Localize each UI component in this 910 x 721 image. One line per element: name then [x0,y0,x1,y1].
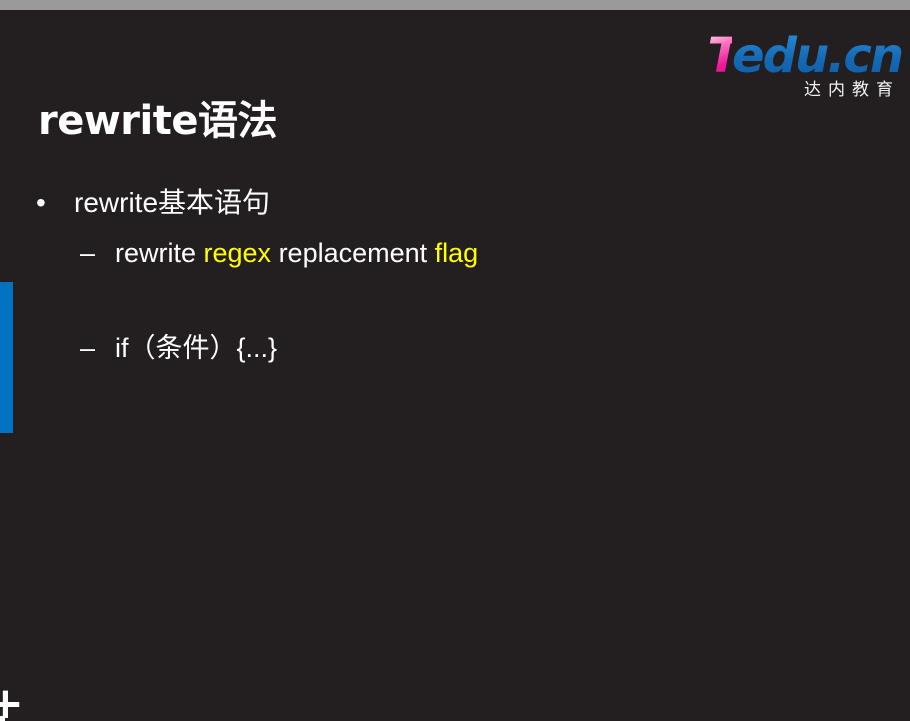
replacement-token: replacement [271,238,435,268]
flag-token: flag [435,238,479,268]
bullet-level2-rewrite: –rewrite regex replacement flag [0,235,910,271]
logo-text-educn: edu.cn [732,28,902,84]
page-title: rewrite语法 [38,88,277,146]
content-list: • rewrite基本语句 –rewrite regex replacement… [0,185,910,376]
logo-subtitle: 达内教育 [692,82,900,99]
top-gray-strip [0,0,910,10]
content-spacer [0,282,910,330]
slide-root: Tedu.cn 达内教育 rewrite语法 • rewrite基本语句 –re… [0,0,910,721]
tedu-logo: Tedu.cn 达内教育 [692,32,902,99]
rewrite-keyword: rewrite [115,238,204,268]
bullet-level1: • rewrite基本语句 [0,185,910,221]
regex-token: regex [204,238,272,268]
bullet-level1-label: rewrite基本语句 [74,187,270,218]
if-condition-label: if（条件）{...} [115,333,277,363]
bullet-level2-if: – if（条件）{...} [0,330,910,366]
logo-wordmark: Tedu.cn [692,32,902,80]
bullet-dash-marker: – [80,235,104,271]
slide-body: Tedu.cn 达内教育 rewrite语法 • rewrite基本语句 –re… [0,10,910,721]
bullet-dash-marker-2: – [80,330,104,366]
bullet-dot-marker: • [36,185,50,221]
edge-tick-marker [0,716,5,721]
logo-letter-t: T [707,28,732,84]
